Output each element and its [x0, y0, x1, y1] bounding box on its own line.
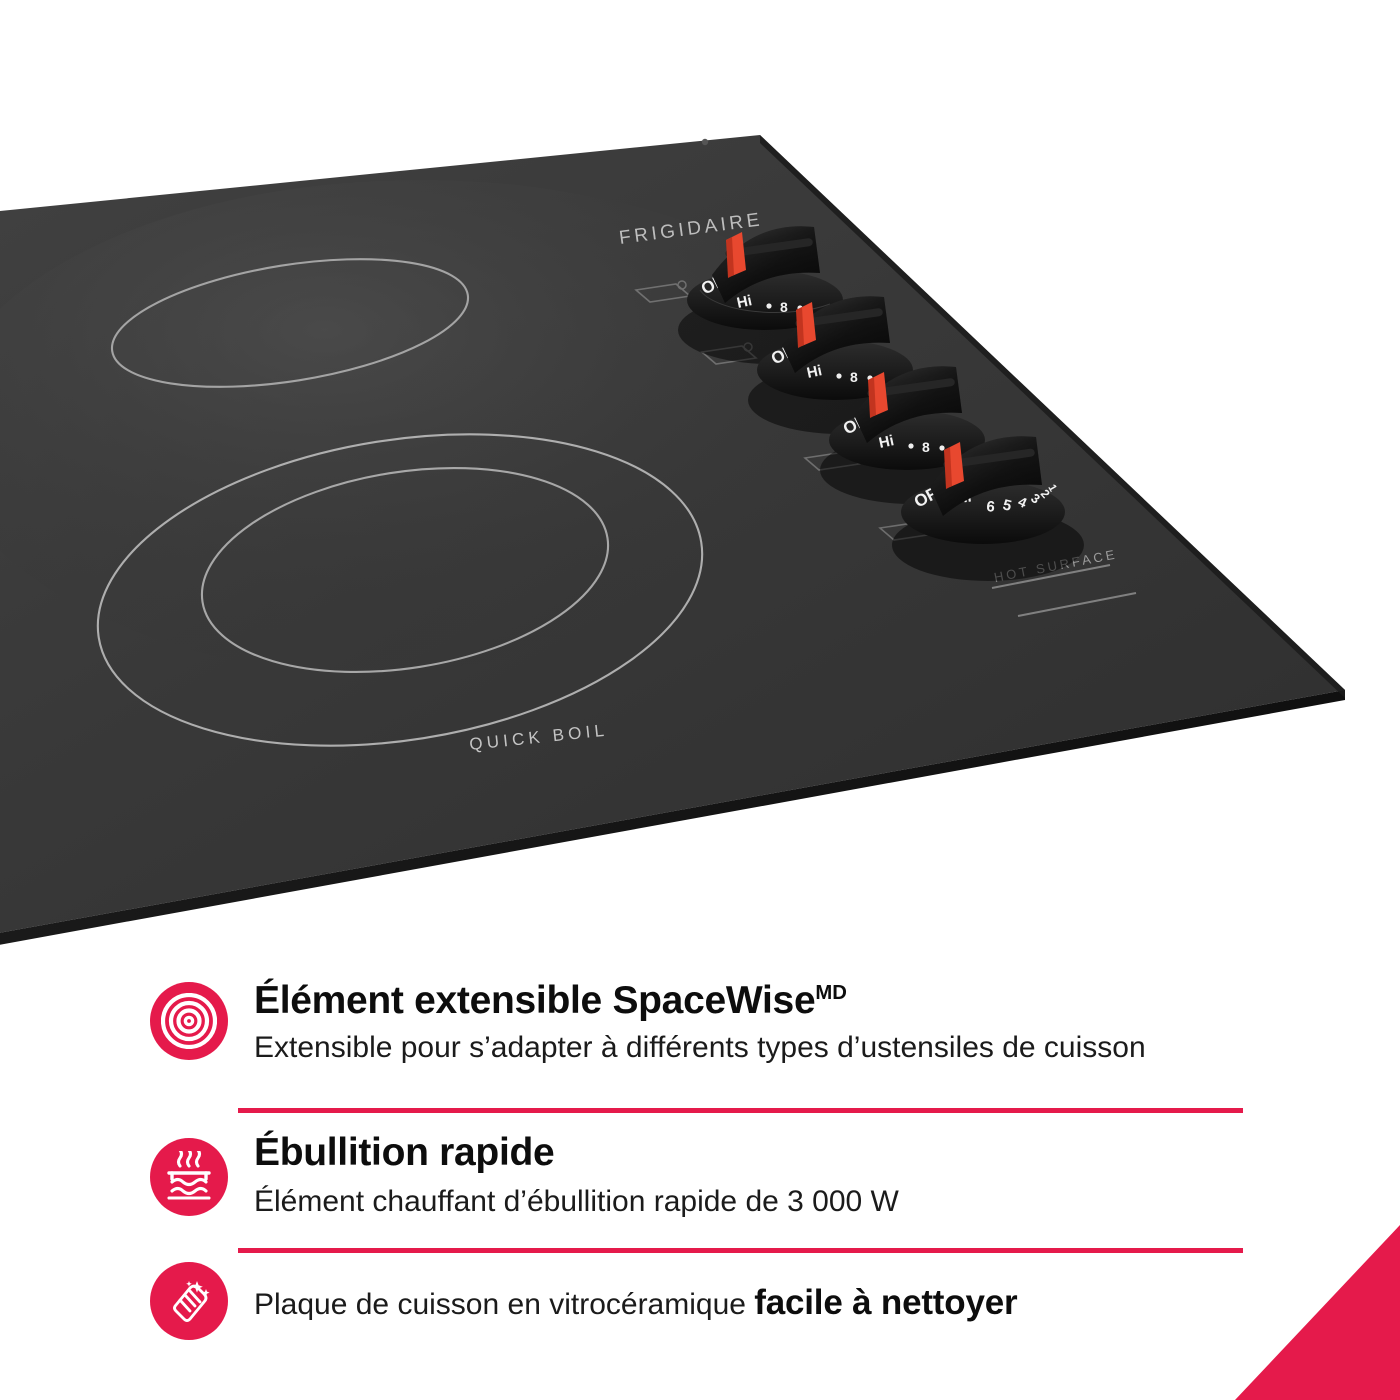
feature-icon-badge-1 [150, 982, 228, 1060]
corner-accent-wedge [1235, 1225, 1400, 1400]
wipe-clean-icon [163, 1275, 215, 1327]
feature-item-spacewise: Élément extensible SpaceWiseMD Extensibl… [150, 978, 1250, 1066]
knob-1-num-label: 8 [780, 299, 788, 315]
feature-item-easy-clean: Plaque de cuisson en vitrocéramique faci… [150, 1260, 1250, 1340]
knob-2-num-label: 8 [850, 369, 858, 385]
feature-list: Élément extensible SpaceWiseMD Extensibl… [0, 960, 1400, 1400]
cooktop-illustration: QUICK BOIL FRIGIDAIRE HOT SURFACE [0, 0, 1400, 960]
feature-text-3-normal: Plaque de cuisson en vitrocéramique [254, 1288, 754, 1321]
feature-title-3: Plaque de cuisson en vitrocéramique faci… [254, 1262, 1017, 1324]
feature-text-2: Ébullition rapide Élément chauffant d’éb… [254, 1130, 899, 1220]
feature-text-3: Plaque de cuisson en vitrocéramique faci… [254, 1260, 1017, 1324]
feature-subtitle-2: Élément chauffant d’ébullition rapide de… [254, 1184, 899, 1220]
feature-title-1: Élément extensible SpaceWiseMD [254, 980, 1146, 1022]
feature-title-2: Ébullition rapide [254, 1132, 899, 1174]
feature-divider-2 [238, 1248, 1243, 1253]
sensor-dot [702, 139, 708, 145]
feature-icon-badge-3 [150, 1262, 228, 1340]
feature-icon-badge-2 [150, 1138, 228, 1216]
feature-divider-1 [238, 1108, 1243, 1113]
feature-subtitle-1: Extensible pour s’adapter à différents t… [254, 1030, 1146, 1066]
feature-text-1: Élément extensible SpaceWiseMD Extensibl… [254, 978, 1146, 1066]
concentric-rings-icon [161, 993, 217, 1049]
svg-text:6: 6 [986, 498, 996, 516]
boiling-pot-icon [163, 1151, 215, 1203]
feature-text-3-bold: facile à nettoyer [754, 1283, 1017, 1322]
cooktop-glass-surface [0, 135, 1345, 952]
feature-title-1-main: Élément extensible SpaceWise [254, 979, 815, 1022]
feature-title-1-superscript: MD [815, 982, 847, 1004]
product-hero-image: QUICK BOIL FRIGIDAIRE HOT SURFACE [0, 0, 1400, 960]
knob-3-num-label: 8 [922, 439, 930, 455]
feature-item-quick-boil: Ébullition rapide Élément chauffant d’éb… [150, 1130, 1250, 1220]
